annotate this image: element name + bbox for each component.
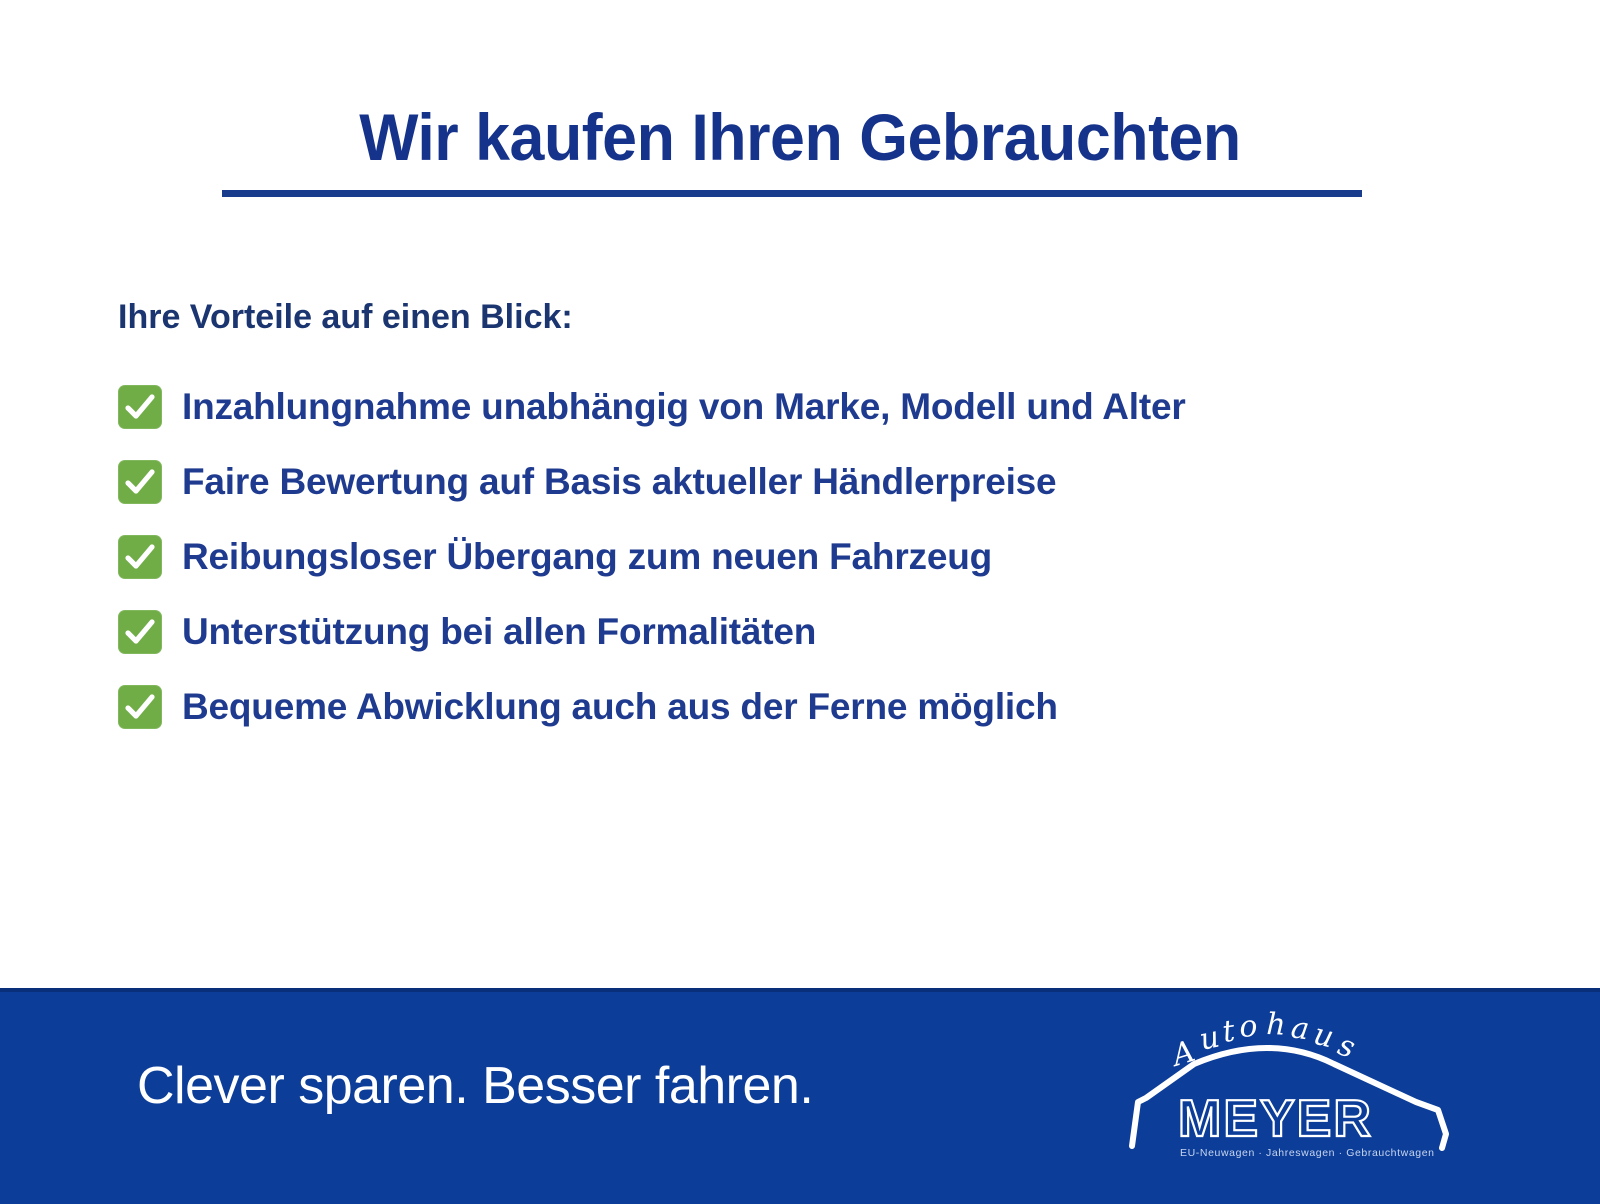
list-item: Inzahlungnahme unabhängig von Marke, Mod… (118, 378, 1538, 436)
svg-text:a: a (1289, 1010, 1312, 1047)
svg-text:s: s (1333, 1028, 1359, 1066)
promo-slide: Wir kaufen Ihren Gebrauchten Ihre Vortei… (0, 0, 1600, 1200)
list-item: Faire Bewertung auf Basis aktueller Händ… (118, 453, 1538, 511)
list-item: Reibungsloser Übergang zum neuen Fahrzeu… (118, 528, 1538, 586)
benefit-label: Reibungsloser Übergang zum neuen Fahrzeu… (182, 538, 992, 577)
benefit-label: Inzahlungnahme unabhängig von Marke, Mod… (182, 388, 1186, 427)
check-square-icon (118, 460, 162, 504)
list-item: Bequeme Abwicklung auch aus der Ferne mö… (118, 678, 1538, 736)
dealer-logo: A u t o h a u s MEYER EU-Neuwagen · Jahr… (1120, 1006, 1460, 1166)
svg-text:A: A (1165, 1034, 1199, 1075)
page-title: Wir kaufen Ihren Gebrauchten (359, 104, 1241, 170)
footer-banner: Clever sparen. Besser fahren. A u t o h … (0, 988, 1600, 1204)
footer-tagline: Clever sparen. Besser fahren. (137, 1056, 813, 1116)
svg-text:t: t (1220, 1013, 1238, 1049)
check-square-icon (118, 685, 162, 729)
logo-brand-text: MEYER (1178, 1090, 1373, 1148)
check-square-icon (118, 535, 162, 579)
check-square-icon (118, 385, 162, 429)
title-underline-rule (222, 190, 1362, 197)
benefits-list: Inzahlungnahme unabhängig von Marke, Mod… (118, 378, 1538, 753)
svg-text:u: u (1310, 1017, 1337, 1056)
svg-text:h: h (1266, 1007, 1287, 1043)
page-title-block: Wir kaufen Ihren Gebrauchten (0, 104, 1600, 170)
logo-subline-text: EU-Neuwagen · Jahreswagen · Gebrauchtwag… (1180, 1147, 1435, 1159)
check-square-icon (118, 610, 162, 654)
benefit-label: Unterstützung bei allen Formalitäten (182, 613, 816, 652)
benefit-label: Bequeme Abwicklung auch aus der Ferne mö… (182, 688, 1058, 727)
svg-text:o: o (1238, 1009, 1258, 1045)
svg-text:u: u (1196, 1020, 1222, 1058)
list-item: Unterstützung bei allen Formalitäten (118, 603, 1538, 661)
benefits-subtitle: Ihre Vorteile auf einen Blick: (118, 298, 573, 337)
benefit-label: Faire Bewertung auf Basis aktueller Händ… (182, 463, 1056, 502)
